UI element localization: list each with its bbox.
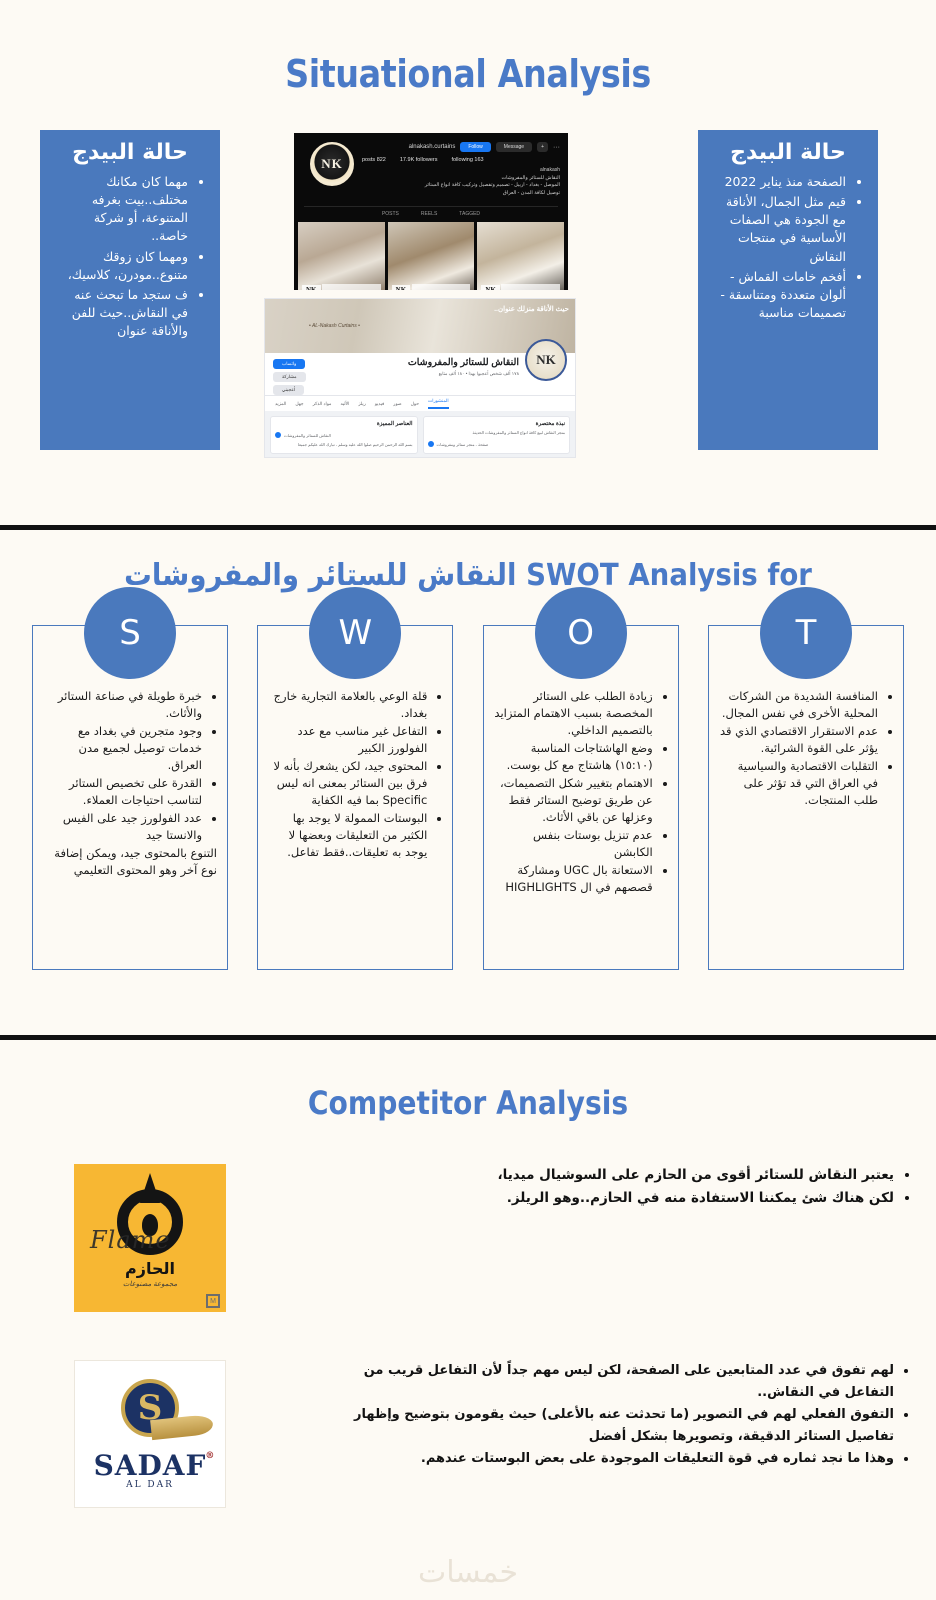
competitor-notes-sadaf: لهم تفوق في عدد المتابعين على الصفحة، لك… bbox=[300, 1360, 936, 1470]
competitor-notes-hazim: يعتبر النقاش للستائر أقوى من الحازم على … bbox=[300, 1164, 936, 1210]
list-item: التقلبات الاقتصادية والسياسية في العراق … bbox=[719, 758, 878, 809]
page-status-card-left: حالة البيدج مهما كان مكانك مختلف..بيت بغ… bbox=[40, 130, 220, 450]
card-title-left: حالة البيدج bbox=[54, 140, 206, 165]
instagram-post-thumb[interactable]: NK bbox=[298, 222, 385, 290]
list-item: عدم تنزيل بوستات بنفس الكابشن bbox=[494, 827, 653, 861]
instagram-post-thumb[interactable]: NK bbox=[477, 222, 564, 290]
info-icon bbox=[428, 441, 434, 447]
card-bullets-left: مهما كان مكانك مختلف..بيت بغرفه المتنوعة… bbox=[54, 173, 206, 340]
more-options-icon[interactable]: ··· bbox=[553, 144, 560, 151]
tab-more[interactable]: المزيد bbox=[275, 401, 286, 407]
situational-content-row: حالة البيدج مهما كان مكانك مختلف..بيت بغ… bbox=[0, 130, 936, 470]
list-item: وجود متجرين في بغداد مع خدمات توصيل لجمي… bbox=[43, 723, 202, 774]
avatar: NK bbox=[525, 339, 567, 381]
instagram-header: NK alnakash.curtains Follow Message + ··… bbox=[294, 133, 568, 201]
tab-posts[interactable]: المنشورات bbox=[428, 398, 449, 409]
swot-badge-o: O bbox=[535, 587, 627, 679]
logo-wordmark-text: SADAF bbox=[94, 1449, 207, 1482]
facebook-page-screenshot: حيث الأناقة منزلك عنوان.. • AL-Nakash Cu… bbox=[264, 298, 576, 458]
brand-mark-nk: NK bbox=[321, 156, 343, 172]
list-item: المنافسة الشديدة من الشركات المحلية الأخ… bbox=[719, 688, 878, 722]
followers-count[interactable]: 17.9K followers bbox=[400, 157, 438, 163]
list-item: خبرة طويلة في صناعة الستائر والأثاث. bbox=[43, 688, 202, 722]
swot-badge-s: S bbox=[84, 587, 176, 679]
instagram-profile-screenshot: NK alnakash.curtains Follow Message + ··… bbox=[294, 133, 568, 290]
sadaf-logo: S SADAF® AL DAR bbox=[74, 1360, 226, 1508]
bio-line: النقاش للستائر والمفروشات bbox=[362, 175, 560, 183]
instagram-post-grid: NK NK NK bbox=[294, 217, 568, 290]
logo-script-text: Flame bbox=[90, 1226, 171, 1254]
situational-analysis-section: Situational Analysis حالة البيدج مهما كا… bbox=[0, 0, 936, 525]
instagram-tabs: POSTS REELS TAGGED bbox=[304, 206, 558, 217]
swot-list: زيادة الطلب على الستائر المخصصة بسبب الا… bbox=[494, 688, 668, 896]
instagram-meta: alnakash.curtains Follow Message + ··· 8… bbox=[362, 142, 560, 197]
facebook-identity-row: NK النقاش للستائر والمفروشات ١٧٨ ألف شخص… bbox=[265, 353, 575, 395]
panel-row: النقاش للستائر والمفروشات bbox=[275, 430, 413, 439]
swot-badge-t: T bbox=[760, 587, 852, 679]
list-item: يعتبر النقاش للستائر أقوى من الحازم على … bbox=[310, 1164, 894, 1187]
swot-badge-w: W bbox=[309, 587, 401, 679]
swot-column-threats: T المنافسة الشديدة من الشركات المحلية ال… bbox=[708, 625, 904, 970]
instagram-handle: alnakash.curtains bbox=[409, 144, 456, 150]
list-item: وهذا ما نجد ثماره في قوة التعليقات الموج… bbox=[310, 1448, 894, 1470]
cover-caption: • AL-Nakash Curtains • bbox=[309, 323, 360, 329]
swot-list: خبرة طويلة في صناعة الستائر والأثاث. وجو… bbox=[43, 688, 217, 879]
page-name: النقاش للستائر والمفروشات bbox=[408, 357, 519, 369]
instagram-stats: 822 posts 17.9K followers 163 following bbox=[362, 157, 560, 163]
tab-videos[interactable]: فيديو bbox=[375, 401, 384, 407]
page-avatar-icon bbox=[275, 432, 281, 438]
competitor-row-sadaf: S SADAF® AL DAR لهم تفوق في عدد المتابعي… bbox=[0, 1360, 936, 1508]
list-item: قلة الوعي بالعلامة التجارية خارج بغداد. bbox=[268, 688, 427, 722]
list-item: ف ستجد ما تبحث عنه في النقاش..حيث للفن و… bbox=[54, 286, 188, 340]
page-stats: ١٧٨ ألف شخص أعجبوا بهذا • ١٨٠ ألف متابع bbox=[408, 371, 519, 377]
panel-row: صفحة - متجر ستائر ومفروشات bbox=[428, 439, 566, 448]
swot-list: قلة الوعي بالعلامة التجارية خارج بغداد. … bbox=[268, 688, 442, 861]
share-button[interactable]: مشاركة bbox=[273, 372, 306, 382]
bio-line: الموصل - بغداد - اربيل - تصميم وتفصيل وت… bbox=[362, 182, 560, 190]
list-item: الصفحة منذ يناير 2022 bbox=[712, 173, 846, 191]
list-item: الاهتمام بتغيير شكل التصميمات، عن طريق ت… bbox=[494, 775, 653, 826]
facebook-featured-panel: العناصر المميزة النقاش للستائر والمفروشا… bbox=[270, 416, 418, 454]
swot-column-strengths: S خبرة طويلة في صناعة الستائر والأثاث. و… bbox=[32, 625, 228, 970]
competitor-row-hazim: Flame الحازم مجموعة مصنوعات M يعتبر النق… bbox=[0, 1164, 936, 1312]
cover-headline: حيث الأناقة منزلك عنوان.. bbox=[494, 305, 569, 313]
message-button[interactable]: Message bbox=[496, 142, 532, 152]
tab-photos[interactable]: صور bbox=[393, 401, 401, 407]
facebook-cover-photo: حيث الأناقة منزلك عنوان.. • AL-Nakash Cu… bbox=[265, 299, 575, 353]
list-item: وضع الهاشتاجات المناسبة (١٥:١٠) هاشتاج م… bbox=[494, 740, 653, 774]
card-bullets-right: الصفحة منذ يناير 2022 قيم مثل الجمال، ال… bbox=[712, 173, 864, 322]
tab-extra-1[interactable]: الأليه bbox=[340, 401, 349, 407]
panel-row-text: صفحة - متجر ستائر ومفروشات bbox=[437, 442, 489, 448]
whatsapp-button[interactable]: واتساب bbox=[273, 359, 305, 369]
brand-mark-nk: NK bbox=[536, 352, 556, 368]
tab-extra-2[interactable]: مواد الذكر bbox=[313, 401, 332, 407]
swot-columns: S خبرة طويلة في صناعة الستائر والأثاث. و… bbox=[0, 625, 936, 970]
tab-reels[interactable]: ريلز bbox=[358, 401, 365, 407]
instagram-bio: alnakash النقاش للستائر والمفروشات الموص… bbox=[362, 167, 560, 197]
hazim-logo: Flame الحازم مجموعة مصنوعات M bbox=[74, 1164, 226, 1312]
list-item: التفوق الفعلي لهم في التصوير (ما تحدثت ع… bbox=[310, 1404, 894, 1448]
panel-text: متجر النقاش لبيع كافة انواع الستائر والم… bbox=[428, 430, 566, 436]
list-item: البوستات الممولة لا يوجد بها الكثير من ا… bbox=[268, 810, 427, 861]
thumb-caption-bar bbox=[322, 284, 381, 290]
facebook-page-name-block: النقاش للستائر والمفروشات ١٧٨ ألف شخص أع… bbox=[408, 357, 519, 377]
facebook-nav-tabs: المنشورات حول صور فيديو ريلز الأليه مواد… bbox=[265, 395, 575, 411]
tab-reels[interactable]: REELS bbox=[421, 211, 437, 217]
facebook-intro-panel: نبذة مختصرة متجر النقاش لبيع كافة انواع … bbox=[423, 416, 571, 454]
tab-extra-3[interactable]: جهل bbox=[295, 401, 303, 407]
panel-text: بسم الله الرحمن الرحيم صلوا الله عليه وس… bbox=[275, 442, 413, 448]
competitor-analysis-section: Competitor Analysis Flame الحازم مجموعة … bbox=[0, 1040, 936, 1600]
logo-subtitle: مجموعة مصنوعات bbox=[123, 1280, 177, 1288]
page-title-competitor: Competitor Analysis bbox=[56, 1040, 880, 1122]
page-title-situational: Situational Analysis bbox=[56, 0, 880, 96]
avatar: NK bbox=[310, 142, 354, 186]
page-title-swot: SWOT Analysis for النقاش للستائر والمفرو… bbox=[37, 530, 898, 593]
panel-row-text: النقاش للستائر والمفروشات bbox=[284, 433, 331, 439]
bio-name: alnakash bbox=[362, 167, 560, 175]
seal-icon: S bbox=[121, 1379, 179, 1437]
list-item: زيادة الطلب على الستائر المخصصة بسبب الا… bbox=[494, 688, 653, 739]
list-item: عدم الاستقرار الاقتصادي الذي قد يؤثر على… bbox=[719, 723, 878, 757]
panel-title: نبذة مختصرة bbox=[428, 421, 566, 427]
tab-posts[interactable]: POSTS bbox=[382, 211, 399, 217]
list-item: لهم تفوق في عدد المتابعين على الصفحة، لك… bbox=[310, 1360, 894, 1404]
card-title-right: حالة البيدج bbox=[712, 140, 864, 165]
list-item: المحتوى جيد، لكن يشعرك بأنه لا فرق بين ا… bbox=[268, 758, 427, 809]
instagram-action-row: alnakash.curtains Follow Message + ··· bbox=[362, 142, 560, 152]
registered-icon: ® bbox=[205, 1451, 215, 1461]
logo-arabic-name: الحازم bbox=[125, 1259, 175, 1278]
logo-wordmark: SADAF® bbox=[94, 1449, 207, 1482]
list-item: التفاعل غير مناسب مع عدد الفولورز الكبير bbox=[268, 723, 427, 757]
tab-about[interactable]: حول bbox=[411, 401, 419, 407]
facebook-action-buttons: واتساب مشاركة أعجبني bbox=[273, 359, 306, 395]
thumb-caption-bar bbox=[412, 284, 471, 290]
list-item: أفخم خامات القماش - ألوان متعددة ومتناسق… bbox=[712, 268, 846, 322]
bio-line: توصيل لكافة المدن - العراق bbox=[362, 190, 560, 198]
logo-wrap: Flame الحازم مجموعة مصنوعات M bbox=[0, 1164, 300, 1312]
swot-column-weaknesses: W قلة الوعي بالعلامة التجارية خارج بغداد… bbox=[257, 625, 453, 970]
posts-count: 822 posts bbox=[362, 157, 386, 163]
watermark: خمسات bbox=[0, 1555, 936, 1590]
list-item: عدد الفولورز جيد على الفيس والانستا جيد bbox=[43, 810, 202, 844]
list-item: مهما كان مكانك مختلف..بيت بغرفه المتنوعة… bbox=[54, 173, 188, 246]
swot-list: المنافسة الشديدة من الشركات المحلية الأخ… bbox=[719, 688, 893, 809]
list-item: لكن هناك شئ يمكننا الاستفادة منه في الحا… bbox=[310, 1187, 894, 1210]
like-button[interactable]: أعجبني bbox=[273, 385, 304, 395]
brand-mark-nk: NK bbox=[481, 285, 500, 290]
list-item: ومهما كان زوقك متنوع..مودرن، كلاسيك، bbox=[54, 248, 188, 284]
notes-list: لهم تفوق في عدد المتابعين على الصفحة، لك… bbox=[310, 1360, 910, 1470]
notes-list: يعتبر النقاش للستائر أقوى من الحازم على … bbox=[310, 1164, 910, 1210]
tab-tagged[interactable]: TAGGED bbox=[459, 211, 480, 217]
follow-button[interactable]: Follow bbox=[460, 142, 490, 152]
watermark-icon: M bbox=[206, 1294, 220, 1308]
swot-column-opportunities: O زيادة الطلب على الستائر المخصصة بسبب ا… bbox=[483, 625, 679, 970]
logo-wrap: S SADAF® AL DAR bbox=[0, 1360, 300, 1508]
brand-mark-nk: NK bbox=[302, 285, 321, 290]
list-item: قيم مثل الجمال، الأناقة مع الجودة هي الص… bbox=[712, 193, 846, 266]
thumb-caption-bar bbox=[501, 284, 560, 290]
swot-analysis-section: SWOT Analysis for النقاش للستائر والمفرو… bbox=[0, 530, 936, 1035]
facebook-body: نبذة مختصرة متجر النقاش لبيع كافة انواع … bbox=[265, 411, 575, 458]
page-status-card-right: حالة البيدج الصفحة منذ يناير 2022 قيم مث… bbox=[698, 130, 878, 450]
panel-title: العناصر المميزة bbox=[275, 421, 413, 427]
list-item-extra: التنوع بالمحتوى جيد، ويمكن إضافة نوع آخر… bbox=[43, 845, 217, 879]
list-item: القدرة على تخصيص الستائر لتناسب احتياجات… bbox=[43, 775, 202, 809]
person-add-icon[interactable]: + bbox=[537, 142, 548, 152]
list-item: الاستعانة بال UGC ومشاركة قصصهم في ال HI… bbox=[494, 862, 653, 896]
instagram-post-thumb[interactable]: NK bbox=[388, 222, 475, 290]
brand-mark-nk: NK bbox=[392, 285, 411, 290]
following-count[interactable]: 163 following bbox=[451, 157, 483, 163]
